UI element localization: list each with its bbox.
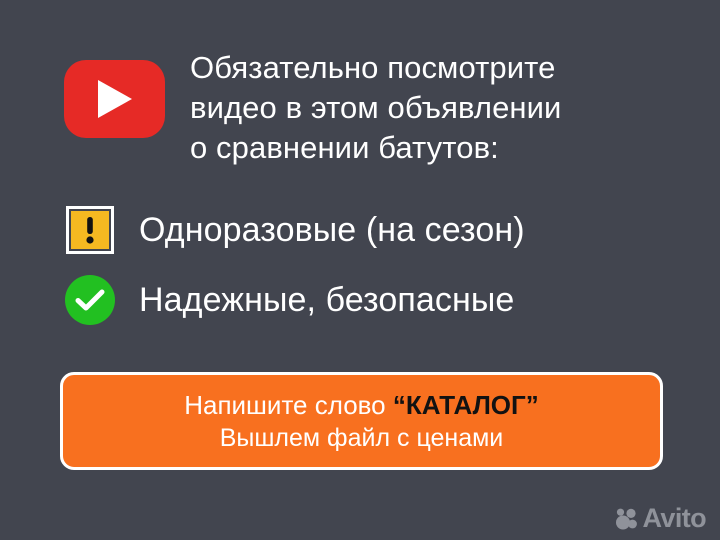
bullet-row-check: Надежные, безопасные [0, 273, 720, 327]
headline-row: Обязательно посмотрите видео в этом объя… [0, 48, 720, 168]
cta-button[interactable]: Напишите слово “КАТАЛОГ” Вышлем файл с ц… [60, 372, 663, 470]
cta-primary-line: Напишите слово “КАТАЛОГ” [184, 389, 539, 421]
check-icon-slot [63, 273, 117, 327]
warning-exclamation-icon [66, 206, 114, 254]
bullet-row-warning: Одноразовые (на сезон) [0, 203, 720, 257]
ad-banner: Обязательно посмотрите видео в этом объя… [0, 0, 720, 540]
youtube-play-icon[interactable] [64, 60, 165, 138]
warning-icon-slot [63, 203, 117, 257]
warning-icon-fill [71, 211, 109, 249]
cta-keyword: КАТАЛОГ [406, 390, 526, 420]
cta-quote-open: “ [393, 390, 406, 420]
avito-dots-icon [614, 508, 640, 530]
avito-wordmark: Avito [643, 505, 707, 532]
avito-watermark: Avito [614, 505, 707, 532]
bullet-label-warning: Одноразовые (на сезон) [139, 210, 525, 250]
check-circle-icon [65, 275, 115, 325]
headline-text: Обязательно посмотрите видео в этом объя… [190, 48, 720, 168]
cta-quote-close: ” [526, 390, 539, 420]
cta-secondary-line: Вышлем файл с ценами [220, 422, 504, 454]
bullet-label-check: Надежные, безопасные [139, 280, 514, 320]
cta-prefix: Напишите слово [184, 390, 393, 420]
